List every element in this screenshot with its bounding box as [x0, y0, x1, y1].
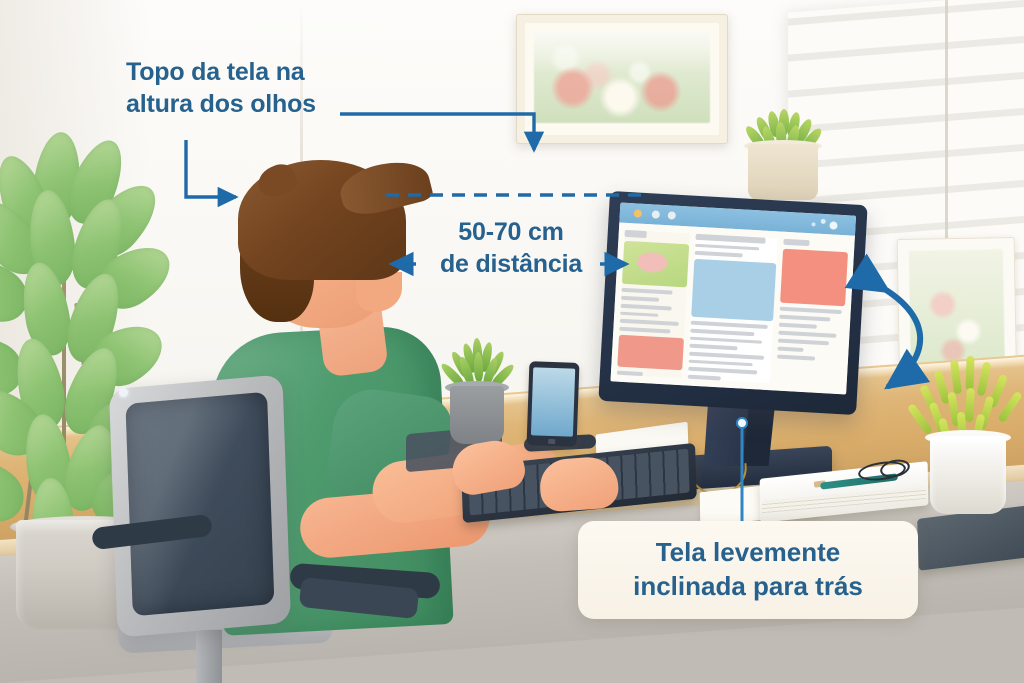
window-succulent-pot	[748, 144, 818, 200]
monitor-power-led	[119, 388, 128, 397]
framed-floral-painting	[516, 14, 728, 144]
blue-card	[691, 259, 776, 321]
annotation-eye-level: Topo da tela na altura dos olhos	[126, 56, 366, 120]
annotation-distance-line1: 50-70 cm	[422, 216, 600, 248]
annotation-tilt-line1: Tela levemente	[600, 535, 896, 569]
chair-post	[196, 630, 222, 683]
webpage-mockup	[610, 223, 855, 395]
monitor-screen[interactable]	[610, 203, 856, 395]
annotation-eye-level-line1: Topo da tela na	[126, 56, 366, 88]
annotation-eye-level-line2: altura dos olhos	[126, 88, 366, 120]
desktop-monitor[interactable]	[598, 191, 867, 415]
chair-backrest[interactable]	[109, 374, 291, 637]
phone-home-button[interactable]	[548, 439, 555, 444]
green-card	[622, 240, 690, 287]
annotation-viewing-distance: 50-70 cm de distância	[422, 216, 600, 280]
desk-succulent-pot	[450, 386, 504, 444]
coral-card	[780, 249, 848, 307]
phone-screen	[531, 367, 575, 436]
annotation-distance-line2: de distância	[422, 248, 600, 280]
ergonomics-illustration: Topo da tela na altura dos olhos 50-70 c…	[0, 0, 1024, 683]
chair-mesh-panel	[125, 392, 274, 617]
desk-shrub-pot	[930, 436, 1006, 514]
annotation-tilt-line2: inclinada para trás	[600, 569, 896, 603]
webpage-column-right	[775, 239, 848, 387]
webpage-column-left	[617, 230, 690, 378]
coral-card-small	[617, 335, 684, 371]
webpage-column-center	[688, 234, 777, 383]
annotation-screen-tilt-callout: Tela levemente inclinada para trás	[578, 521, 918, 619]
smartphone[interactable]	[527, 361, 580, 447]
person-hand-right	[538, 455, 619, 512]
